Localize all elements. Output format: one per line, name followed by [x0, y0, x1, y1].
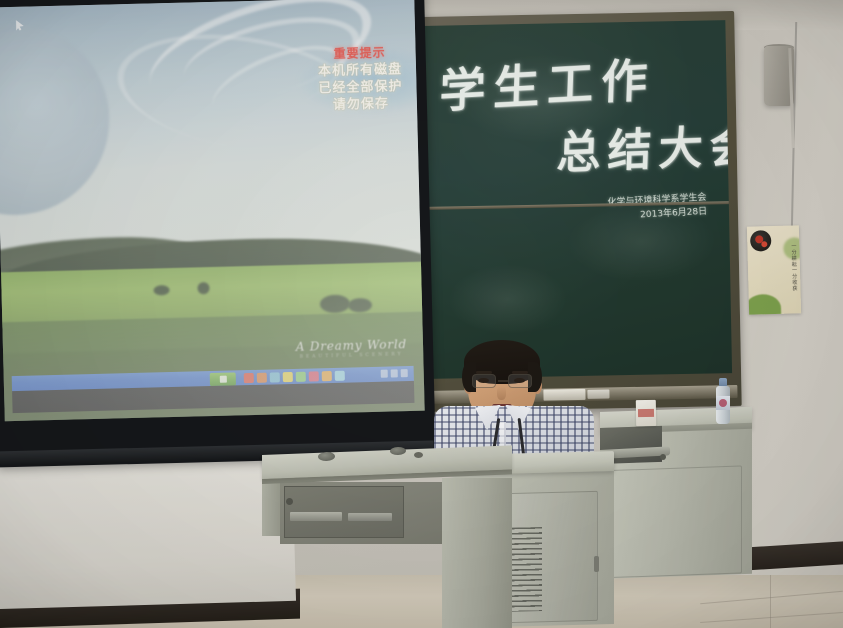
wallpaper-watermark: A Dreamy World BEAUTIFUL SCENERY: [296, 337, 408, 360]
media-player-icon[interactable]: [270, 372, 280, 382]
blackboard-headline-line1: 学生工作: [439, 44, 657, 122]
pc-drive-slot[interactable]: [290, 512, 342, 521]
notes-icon[interactable]: [335, 371, 345, 381]
chalk-eraser-icon-2: [587, 389, 609, 398]
folder-icon[interactable]: [296, 372, 306, 382]
chrome-icon[interactable]: [283, 372, 293, 382]
bottle-label: [716, 396, 730, 410]
control-desk-right-leg: [442, 478, 512, 628]
projected-notice: 重要提示 本机所有磁盘 已经全部保护 请勿保存: [317, 45, 403, 114]
ie-browser-icon[interactable]: [257, 373, 267, 383]
volume-icon[interactable]: [381, 370, 388, 378]
person-nose: [497, 386, 506, 400]
side-desk-panel: [612, 465, 742, 578]
tissue-box: [636, 400, 656, 426]
poster-leaf-motif: [747, 294, 782, 315]
podium-door-handle[interactable]: [594, 556, 599, 572]
messenger-icon[interactable]: [309, 371, 319, 381]
start-button[interactable]: [210, 372, 236, 386]
whiteboard: [0, 451, 296, 609]
projected-notice-line-3: 请勿保存: [319, 95, 403, 114]
control-desk-grommet-3: [414, 452, 423, 458]
person-eye-left: [478, 378, 489, 383]
wallpaper-watermark-text: A Dreamy World: [296, 337, 408, 354]
system-tray[interactable]: [381, 369, 408, 378]
projection-surface[interactable]: 重要提示 本机所有磁盘 已经全部保护 请勿保存 A Dreamy World B…: [0, 0, 425, 421]
clock[interactable]: [401, 369, 408, 377]
network-icon[interactable]: [391, 369, 398, 377]
wall-poster: 一分耕耘一分收获: [747, 225, 801, 314]
blackboard-surface: 学生工作 总结大会 化学与环境科学系学生会 2013年6月28日: [422, 20, 732, 379]
person-eye-right: [514, 378, 525, 383]
eyeglasses-bridge: [498, 380, 508, 382]
projection-screen: 重要提示 本机所有磁盘 已经全部保护 请勿保存 A Dreamy World B…: [0, 0, 436, 467]
side-desk-tray-knob[interactable]: [660, 454, 666, 460]
blackboard-headline-line2: 总结大会: [556, 110, 732, 182]
blackboard-signature: 化学与环境科学系学生会 2013年6月28日: [607, 191, 707, 225]
projected-notice-line-1: 本机所有磁盘: [318, 61, 402, 80]
antivirus-icon[interactable]: [322, 371, 332, 381]
poster-vertical-text: 一分耕耘一分收获: [768, 243, 797, 292]
show-desktop-icon[interactable]: [244, 373, 254, 383]
pc-drive-slot-2[interactable]: [348, 513, 392, 521]
projected-notice-line-2: 已经全部保护: [318, 78, 402, 97]
quick-launch-tray[interactable]: [244, 371, 345, 384]
classroom-photo: 一分耕耘一分收获 学生工作 总结大会 化学与环境科学系学生会 2013年6月28…: [0, 0, 843, 628]
control-desk-left-leg: [262, 478, 280, 536]
pc-cabinet-knob[interactable]: [286, 498, 293, 505]
water-bottle: [716, 378, 730, 424]
